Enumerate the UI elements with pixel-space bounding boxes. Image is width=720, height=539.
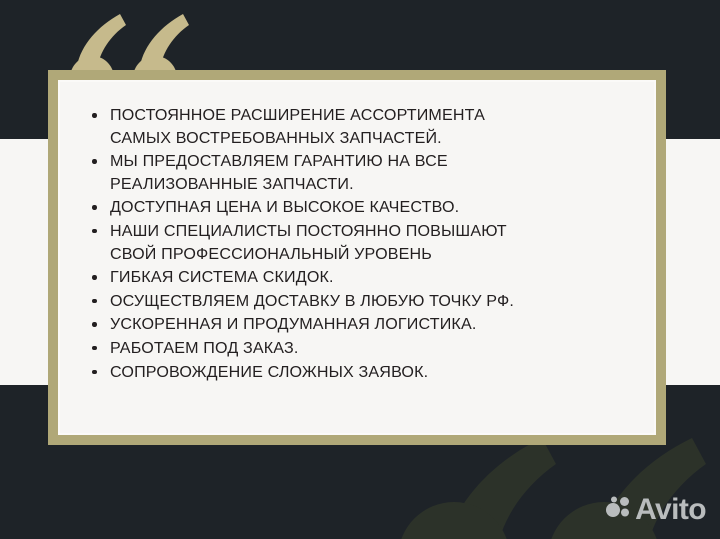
list-item: УСКОРЕННАЯ И ПРОДУМАННАЯ ЛОГИСТИКА. bbox=[88, 313, 628, 336]
list-item: ПОСТОЯННОЕ РАСШИРЕНИЕ АССОРТИМЕНТА САМЫХ… bbox=[88, 104, 628, 149]
list-item-label: ДОСТУПНАЯ ЦЕНА И ВЫСОКОЕ КАЧЕСТВО. bbox=[110, 198, 459, 216]
bullet-dot-icon bbox=[92, 229, 97, 234]
list-item-label: УСКОРЕННАЯ И ПРОДУМАННАЯ ЛОГИСТИКА. bbox=[110, 315, 476, 333]
list-item: ГИБКАЯ СИСТЕМА СКИДОК. bbox=[88, 266, 628, 289]
list-item-label: ОСУЩЕСТВЛЯЕМ ДОСТАВКУ В ЛЮБУЮ ТОЧКУ РФ. bbox=[110, 292, 514, 310]
quote-card-inner: ПОСТОЯННОЕ РАСШИРЕНИЕ АССОРТИМЕНТА САМЫХ… bbox=[58, 80, 656, 435]
list-item: ОСУЩЕСТВЛЯЕМ ДОСТАВКУ В ЛЮБУЮ ТОЧКУ РФ. bbox=[88, 290, 628, 313]
list-item: ДОСТУПНАЯ ЦЕНА И ВЫСОКОЕ КАЧЕСТВО. bbox=[88, 196, 628, 219]
bullet-dot-icon bbox=[92, 346, 97, 351]
list-item-label: СОПРОВОЖДЕНИЕ СЛОЖНЫХ ЗАЯВОК. bbox=[110, 363, 428, 381]
list-item: МЫ ПРЕДОСТАВЛЯЕМ ГАРАНТИЮ НА ВСЕ РЕАЛИЗО… bbox=[88, 150, 628, 195]
list-item: СОПРОВОЖДЕНИЕ СЛОЖНЫХ ЗАЯВОК. bbox=[88, 361, 628, 384]
list-item: НАШИ СПЕЦИАЛИСТЫ ПОСТОЯННО ПОВЫШАЮТ СВОЙ… bbox=[88, 220, 628, 265]
slide-canvas: ПОСТОЯННОЕ РАСШИРЕНИЕ АССОРТИМЕНТА САМЫХ… bbox=[0, 0, 720, 539]
bullet-dot-icon bbox=[92, 113, 97, 118]
bullet-dot-icon bbox=[92, 205, 97, 210]
benefits-list: ПОСТОЯННОЕ РАСШИРЕНИЕ АССОРТИМЕНТА САМЫХ… bbox=[88, 104, 628, 383]
list-item-label: РАБОТАЕМ ПОД ЗАКАЗ. bbox=[110, 339, 298, 357]
list-item-label: МЫ ПРЕДОСТАВЛЯЕМ ГАРАНТИЮ НА ВСЕ РЕАЛИЗО… bbox=[110, 152, 448, 193]
bullet-dot-icon bbox=[92, 370, 97, 375]
avito-watermark: Avito bbox=[605, 494, 706, 525]
quote-card: ПОСТОЯННОЕ РАСШИРЕНИЕ АССОРТИМЕНТА САМЫХ… bbox=[48, 70, 666, 445]
bullet-dot-icon bbox=[92, 159, 97, 164]
list-item-label: ГИБКАЯ СИСТЕМА СКИДОК. bbox=[110, 268, 334, 286]
list-item-label: НАШИ СПЕЦИАЛИСТЫ ПОСТОЯННО ПОВЫШАЮТ СВОЙ… bbox=[110, 222, 507, 263]
avito-dots-icon bbox=[605, 494, 631, 525]
bullet-dot-icon bbox=[92, 299, 97, 304]
bullet-dot-icon bbox=[92, 275, 97, 280]
bullet-dot-icon bbox=[92, 322, 97, 327]
list-item-label: ПОСТОЯННОЕ РАСШИРЕНИЕ АССОРТИМЕНТА САМЫХ… bbox=[110, 106, 485, 147]
avito-label: Avito bbox=[635, 495, 706, 525]
list-item: РАБОТАЕМ ПОД ЗАКАЗ. bbox=[88, 337, 628, 360]
